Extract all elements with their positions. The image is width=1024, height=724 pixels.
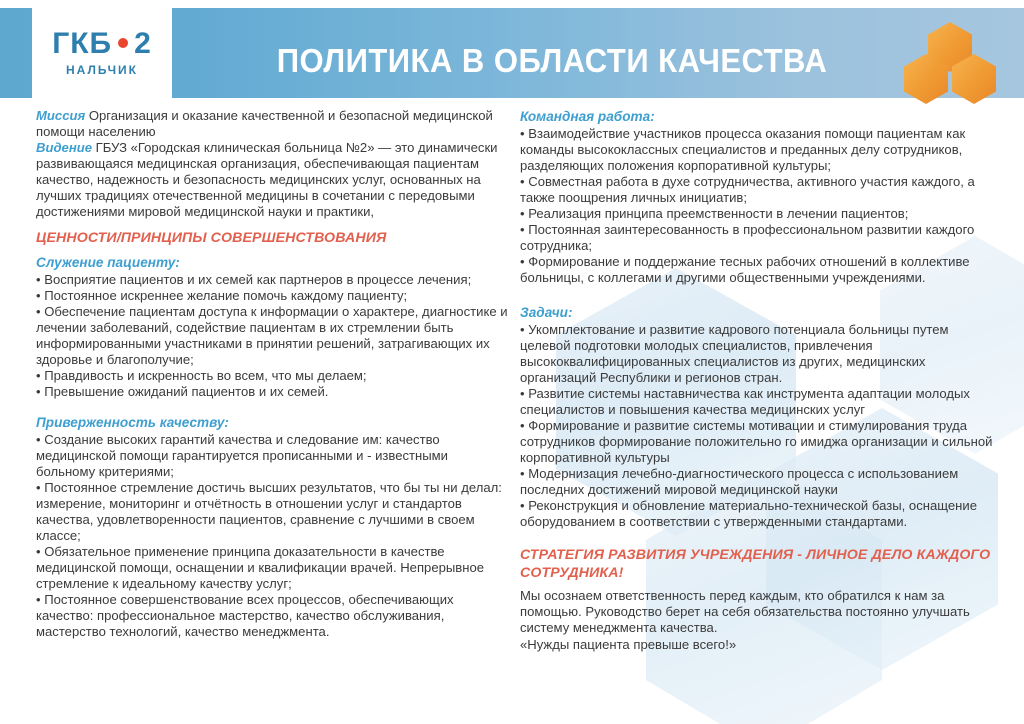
vision-paragraph: Видение ГБУЗ «Городская клиническая боль… — [36, 140, 510, 220]
mission-text: Организация и оказание качественной и бе… — [36, 108, 493, 139]
page-title: ПОЛИТИКА В ОБЛАСТИ КАЧЕСТВА — [251, 16, 853, 106]
list-item: Правдивость и искренность во всем, что м… — [36, 368, 510, 384]
list-item: Реализация принципа преемственности в ле… — [520, 206, 998, 222]
list-item: Обеспечение пациентам доступа к информац… — [36, 304, 510, 368]
teamwork-subheading: Командная работа: — [520, 108, 998, 125]
vision-text: ГБУЗ «Городская клиническая больница №2»… — [36, 140, 498, 219]
logo-wordmark: ГКБ 2 — [52, 29, 152, 59]
list-item: Взаимодействие участников процесса оказа… — [520, 126, 998, 174]
organization-logo: ГКБ 2 НАЛЬЧИК — [32, 8, 172, 98]
mission-paragraph: Миссия Организация и оказание качественн… — [36, 108, 510, 140]
three-hexagons-logo — [898, 20, 1002, 106]
logo-text-number: 2 — [134, 29, 152, 59]
list-item: Совместная работа в духе сотрудничества,… — [520, 174, 998, 206]
teamwork-bullet-list: Взаимодействие участников процесса оказа… — [520, 126, 998, 286]
list-item: Постоянная заинтересованность в професси… — [520, 222, 998, 254]
left-column: Миссия Организация и оказание качественн… — [36, 108, 510, 640]
mission-label: Миссия — [36, 108, 85, 123]
list-item: Реконструкция и обновление материально-т… — [520, 498, 998, 530]
policy-poster: ПОЛИТИКА В ОБЛАСТИ КАЧЕСТВА ГКБ 2 НАЛЬЧИ… — [0, 0, 1024, 724]
list-item: Превышение ожиданий пациентов и их семей… — [36, 384, 510, 400]
strategy-paragraph: Мы осознаем ответственность перед каждым… — [520, 588, 998, 636]
red-dot-icon — [118, 38, 128, 48]
list-item: Постоянное совершенствование всех процес… — [36, 592, 510, 640]
tasks-bullet-list: Укомплектование и развитие кадрового пот… — [520, 322, 998, 530]
strategy-quote: «Нужды пациента превыше всего!» — [520, 637, 998, 653]
spacer — [36, 400, 510, 407]
list-item: Создание высоких гарантий качества и сле… — [36, 432, 510, 480]
list-item: Постоянное искреннее желание помочь кажд… — [36, 288, 510, 304]
list-item: Развитие системы наставничества как инст… — [520, 386, 998, 418]
quality-subheading: Приверженность качеству: — [36, 414, 510, 431]
spacer — [520, 530, 998, 537]
list-item: Восприятие пациентов и их семей как парт… — [36, 272, 510, 288]
list-item: Постоянное стремление достичь высших рез… — [36, 480, 510, 544]
service-subheading: Служение пациенту: — [36, 254, 510, 271]
vision-label: Видение — [36, 140, 92, 155]
list-item: Обязательное применение принципа доказат… — [36, 544, 510, 592]
spacer — [520, 286, 998, 297]
values-section-heading: ЦЕННОСТИ/ПРИНЦИПЫ СОВЕРШЕНСТВОВАНИЯ — [36, 229, 510, 247]
tasks-subheading: Задачи: — [520, 304, 998, 321]
list-item: Модернизация лечебно-диагностического пр… — [520, 466, 998, 498]
service-bullet-list: Восприятие пациентов и их семей как парт… — [36, 272, 510, 400]
right-column: Командная работа: Взаимодействие участни… — [520, 108, 998, 653]
logo-text-gkb: ГКБ — [52, 29, 112, 59]
logo-city-label: НАЛЬЧИК — [66, 63, 138, 77]
list-item: Укомплектование и развитие кадрового пот… — [520, 322, 998, 386]
quality-bullet-list: Создание высоких гарантий качества и сле… — [36, 432, 510, 640]
list-item: Формирование и развитие системы мотиваци… — [520, 418, 998, 466]
list-item: Формирование и поддержание тесных рабочи… — [520, 254, 998, 286]
strategy-heading: СТРАТЕГИЯ РАЗВИТИЯ УЧРЕЖДЕНИЯ - ЛИЧНОЕ Д… — [520, 546, 998, 582]
